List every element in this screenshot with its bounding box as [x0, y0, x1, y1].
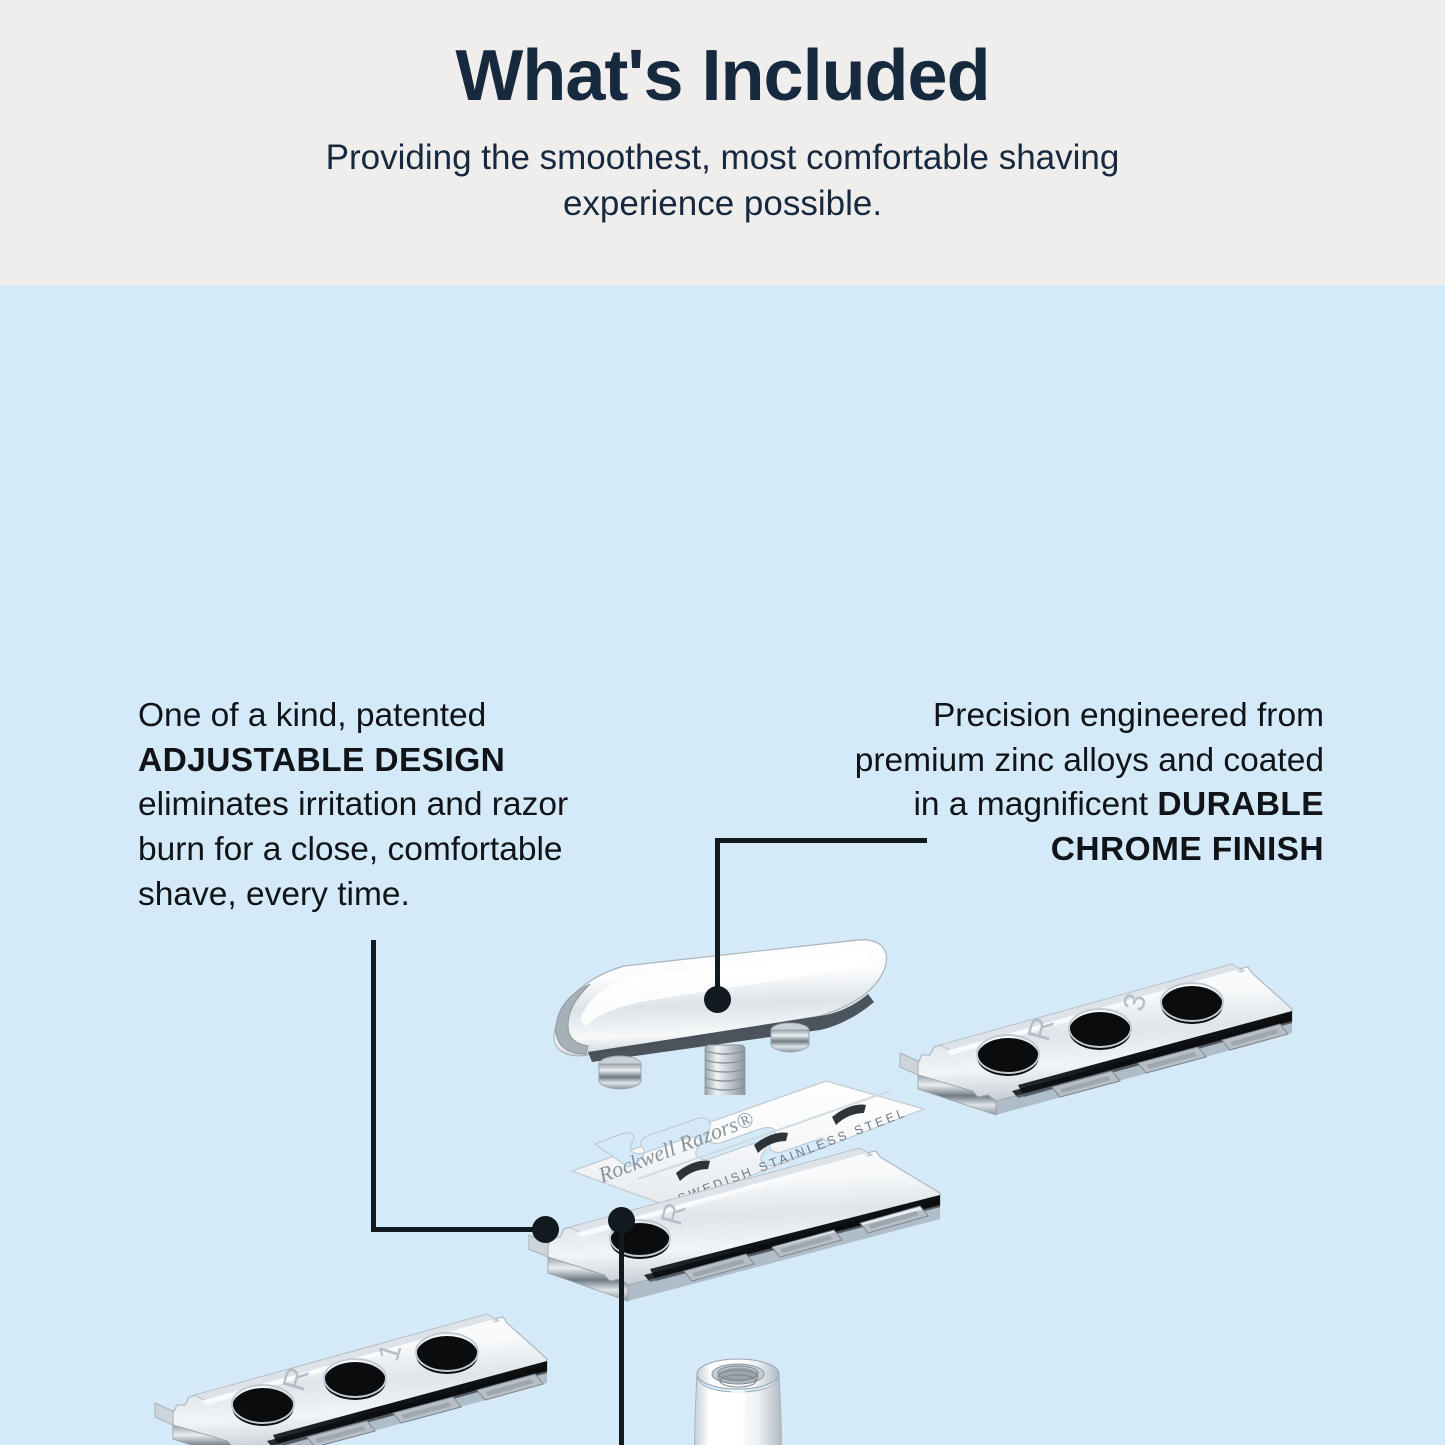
leader-line-single-blade-vertical — [619, 1216, 624, 1445]
leader-dot-single-blade — [608, 1207, 635, 1234]
callout-adjustable-lead-out: eliminates irritation and razor burn for… — [138, 786, 568, 912]
knurled-razor-handle — [663, 1348, 813, 1445]
leader-line-chrome-vertical — [715, 842, 720, 998]
callout-adjustable-design: One of a kind, patented ADJUSTABLE DESIG… — [138, 694, 600, 918]
base-plate-assembled: R — [528, 1145, 948, 1325]
callout-adjustable-emphasis: ADJUSTABLE DESIGN — [138, 742, 505, 779]
leader-line-adjustable-horizontal — [371, 1227, 546, 1232]
leader-line-adjustable-vertical — [371, 940, 376, 1232]
page-title: What's Included — [455, 34, 989, 119]
page-subtitle: Providing the smoothest, most comfortabl… — [243, 135, 1203, 227]
base-plate-3: R 3 — [900, 935, 1300, 1150]
leader-dot-chrome — [704, 986, 731, 1013]
base-plate-1: R 1 — [155, 1285, 555, 1445]
product-diagram-stage: One of a kind, patented ADJUSTABLE DESIG… — [0, 285, 1445, 1445]
leader-dot-adjustable — [532, 1216, 559, 1243]
callout-adjustable-lead-in: One of a kind, patented — [138, 697, 486, 734]
leader-line-chrome-horizontal — [715, 838, 927, 843]
header-banner: What's Included Providing the smoothest,… — [0, 0, 1445, 285]
callout-durable-chrome-finish: Precision engineered from premium zinc a… — [828, 694, 1324, 873]
